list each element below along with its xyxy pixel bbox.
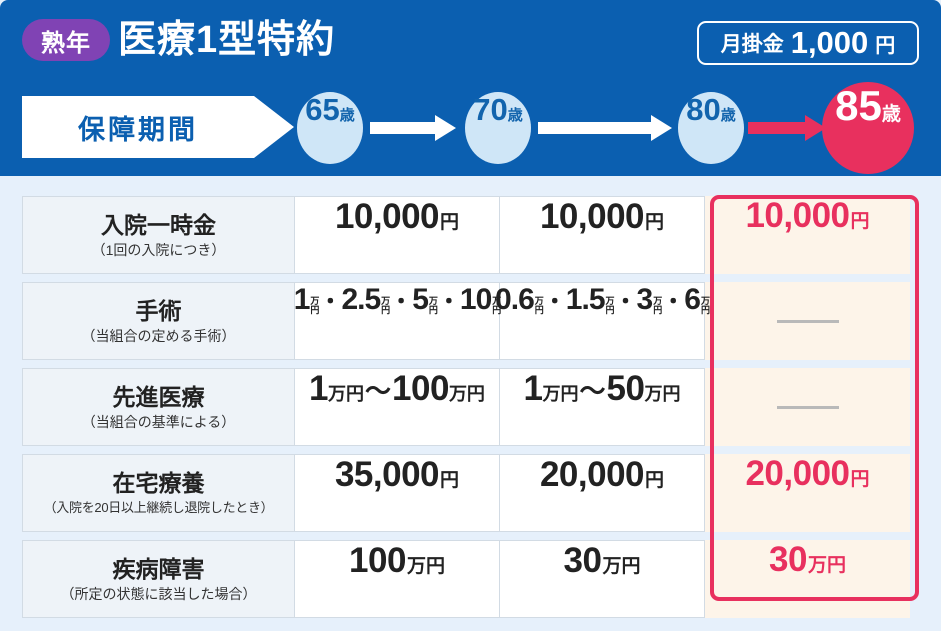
benefit-value-age80-highlighted: 30 万円 [705,540,910,618]
coverage-timeline: 保障期間 65 歳 70 歳 80 歳 [0,88,941,168]
separator: ・ [615,284,636,316]
plan-category-badge: 熟年 [22,19,110,61]
surgery-amount: 6 [684,283,700,317]
benefit-name: 在宅療養 [113,469,205,497]
table-row: 先進医療 （当組合の基準による） 1 万円 ～ 100 万円 1 万円 ～ 50 [22,368,919,446]
no-benefit-indicator [705,282,910,360]
benefit-label-cell: 入院一時金 （1回の入院につき） [22,196,295,274]
unit-man-yen-stacked: 万 円 [535,297,543,315]
range-from: 1 [309,369,328,409]
benefit-table: 入院一時金 （1回の入院につき） 10,000 円 10,000 円 10,00… [22,196,919,618]
timeline-node-70-age: 70 [473,92,507,128]
benefit-label-cell: 手術 （当組合の定める手術） [22,282,295,360]
timeline-arrow-70-80 [538,115,672,141]
header-banner: 熟年 医療1型特約 月掛金 1,000 円 保障期間 65 歳 70 [0,0,941,176]
benefit-value-age70: 1 万円 ～ 50 万円 [500,368,705,446]
unit-man-yen-stacked: 万 円 [381,297,389,315]
monthly-premium-amount: 1,000 [791,25,869,61]
benefit-label-cell: 疾病障害 （所定の状態に該当した場合） [22,540,295,618]
unit-man-yen-stacked: 万 円 [653,297,661,315]
unit-man-yen-stacked: 万 円 [606,297,614,315]
benefit-value-age65: 100 万円 [295,540,500,618]
unit-yen: 円 [653,306,661,315]
benefit-value-age70: 30 万円 [500,540,705,618]
timeline-node-70-suffix: 歳 [508,104,523,125]
benefit-amount-unit: 円 [851,464,870,491]
range-from-unit: 万円 [328,380,364,406]
separator: ・ [544,284,565,316]
separator: ・ [390,284,411,316]
timeline-node-80: 80 歳 [678,92,744,164]
benefit-value-age80-highlighted: 10,000 円 [705,196,910,274]
benefit-value-age65: 35,000 円 [295,454,500,532]
range-from: 1 [524,369,543,409]
surgery-amount: 5 [412,283,428,317]
unit-man-yen-stacked: 万 円 [701,297,709,315]
no-benefit-indicator [705,368,910,446]
benefit-value-age80-highlighted [705,368,910,446]
unit-yen: 円 [606,306,614,315]
benefit-amount: 30 [769,540,807,580]
benefit-value-age65: 10,000 円 [295,196,500,274]
surgery-amount: 1 [294,283,310,317]
timeline-node-80-suffix: 歳 [721,104,736,125]
range-tilde: ～ [580,371,606,408]
benefit-note: （1回の入院につき） [92,240,226,260]
benefit-value-age80-highlighted: 20,000 円 [705,454,910,532]
table-row: 入院一時金 （1回の入院につき） 10,000 円 10,000 円 10,00… [22,196,919,274]
benefit-amount: 100 [349,541,406,581]
surgery-amount: 0.6 [495,283,534,317]
benefit-value-age80-highlighted [705,282,910,360]
benefit-note: （所定の状態に該当した場合） [61,584,257,604]
timeline-node-80-age: 80 [686,92,720,128]
timeline-arrow-80-85 [748,115,826,141]
table-row: 在宅療養 （入院を20日以上継続し退院したとき） 35,000 円 20,000… [22,454,919,532]
timeline-node-65-suffix: 歳 [340,104,355,125]
range-to: 50 [607,369,645,409]
range-to-unit: 万円 [644,380,680,406]
benefit-range: 1 万円 ～ 50 万円 [524,369,681,409]
page-title: 医療1型特約 [118,14,335,66]
dash-icon [777,406,839,409]
unit-yen: 円 [310,306,318,315]
unit-yen: 円 [429,306,437,315]
unit-yen: 円 [701,306,709,315]
benefit-value-age70: 20,000 円 [500,454,705,532]
surgery-amount-list: 1 万 円 ・ 2.5 万 円 ・ 5 万 円 [294,283,501,320]
unit-yen: 円 [492,306,500,315]
range-tilde: ～ [365,371,391,408]
unit-yen: 円 [535,306,543,315]
range-to-unit: 万円 [449,380,485,406]
benefit-amount-unit: 円 [851,206,870,233]
surgery-amount: 2.5 [341,283,380,317]
benefit-value-age65: 1 万 円 ・ 2.5 万 円 ・ 5 万 円 [295,282,500,360]
benefit-amount: 20,000 [745,454,849,494]
benefit-amount-unit: 万円 [602,551,640,578]
benefit-name: 入院一時金 [101,211,216,239]
benefit-label-cell: 在宅療養 （入院を20日以上継続し退院したとき） [22,454,295,532]
timeline-node-85-age: 85 [835,82,882,130]
unit-man-yen-stacked: 万 円 [492,297,500,315]
table-row: 疾病障害 （所定の状態に該当した場合） 100 万円 30 万円 30 万円 [22,540,919,618]
benefit-name: 疾病障害 [113,555,205,583]
benefit-note: （入院を20日以上継続し退院したとき） [44,498,274,518]
benefit-value-age65: 1 万円 ～ 100 万円 [295,368,500,446]
benefit-range: 1 万円 ～ 100 万円 [309,369,485,409]
benefit-name: 手術 [136,297,182,325]
plan-category-badge-label: 熟年 [41,23,91,58]
coverage-period-label: 保障期間 [22,108,254,147]
unit-man-yen-stacked: 万 円 [310,297,318,315]
benefit-note: （当組合の定める手術） [82,326,236,346]
benefit-amount: 10,000 [335,197,439,237]
benefit-amount-unit: 円 [440,465,459,492]
benefit-note: （当組合の基準による） [82,412,236,432]
separator: ・ [319,284,340,316]
table-row: 手術 （当組合の定める手術） 1 万 円 ・ 2.5 万 円 ・ [22,282,919,360]
surgery-amount: 3 [637,283,653,317]
range-from-unit: 万円 [543,380,579,406]
unit-yen: 円 [381,306,389,315]
benefit-amount-unit: 円 [440,207,459,234]
plan-summary-page: 熟年 医療1型特約 月掛金 1,000 円 保障期間 65 歳 70 [0,0,941,631]
surgery-amount-list: 0.6 万 円 ・ 1.5 万 円 ・ 3 万 円 [495,283,709,320]
timeline-node-85: 85 歳 [822,82,914,174]
benefit-amount-unit: 円 [645,207,664,234]
benefit-label-cell: 先進医療 （当組合の基準による） [22,368,295,446]
benefit-amount-unit: 万円 [808,550,846,577]
timeline-node-70: 70 歳 [465,92,531,164]
benefit-name: 先進医療 [113,383,205,411]
separator: ・ [438,284,459,316]
range-to: 100 [392,369,449,409]
monthly-premium-label: 月掛金 [721,28,784,58]
benefit-value-age70: 0.6 万 円 ・ 1.5 万 円 ・ 3 万 円 [500,282,705,360]
benefit-amount: 10,000 [540,197,644,237]
timeline-arrow-65-70 [370,115,456,141]
surgery-amount: 10 [460,283,491,317]
benefit-amount: 35,000 [335,455,439,495]
monthly-premium-unit: 円 [875,29,895,58]
benefit-amount: 10,000 [745,196,849,236]
benefit-amount-unit: 万円 [407,551,445,578]
coverage-period-banner: 保障期間 [22,96,294,158]
surgery-amount: 1.5 [566,283,605,317]
timeline-node-85-suffix: 歳 [882,99,901,126]
benefit-amount-unit: 円 [645,465,664,492]
dash-icon [777,320,839,323]
benefit-amount: 30 [564,541,602,581]
benefit-value-age70: 10,000 円 [500,196,705,274]
timeline-node-65: 65 歳 [297,92,363,164]
monthly-premium-box: 月掛金 1,000 円 [697,21,919,65]
benefit-amount: 20,000 [540,455,644,495]
timeline-node-65-age: 65 [305,92,339,128]
separator: ・ [662,284,683,316]
unit-man-yen-stacked: 万 円 [429,297,437,315]
